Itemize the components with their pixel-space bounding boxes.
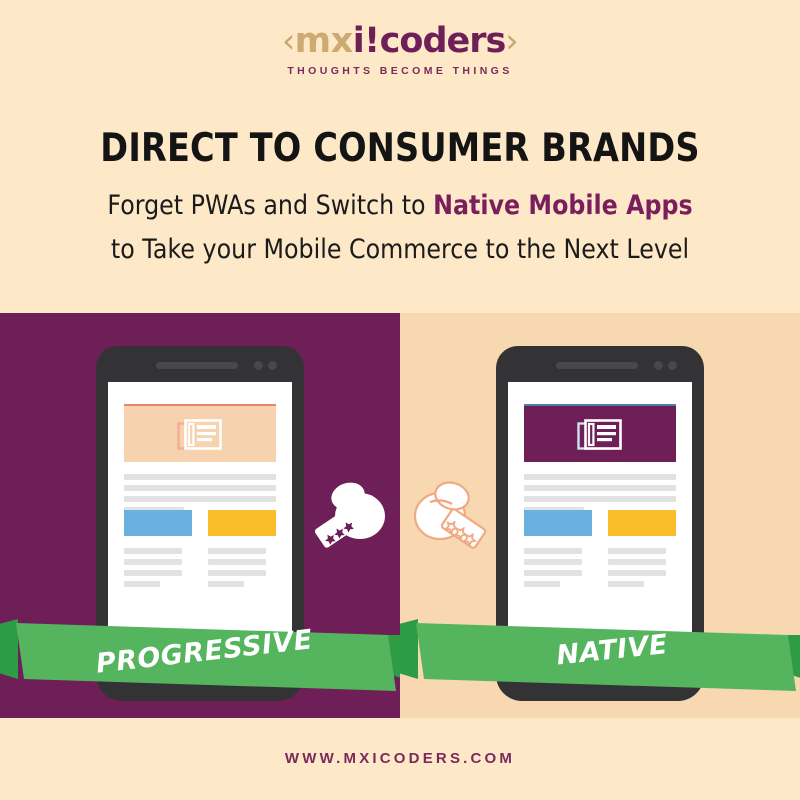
content-line	[208, 570, 266, 576]
footer-website: WWW.MXICODERS.COM	[0, 750, 800, 767]
content-line	[124, 548, 182, 554]
logo-text-coders: coders	[380, 21, 506, 61]
phone-screen-native	[508, 382, 692, 660]
logo-wordmark: ‹mxi!coders›	[0, 24, 800, 59]
subtitle-line-1: Forget PWAs and Switch to Native Mobile …	[48, 190, 752, 221]
phone-camera-icon	[668, 361, 677, 370]
phone-screen-progressive	[108, 382, 292, 660]
content-line	[124, 474, 276, 480]
logo-text-mx: mx	[295, 21, 353, 61]
app-hero-banner	[524, 404, 676, 462]
progressive-panel: PROGRESSIVE	[0, 313, 400, 718]
content-line	[124, 570, 182, 576]
content-line	[124, 581, 160, 587]
newspaper-icon	[576, 417, 624, 453]
app-card-blue	[524, 510, 592, 536]
content-line	[524, 485, 676, 491]
phone-mockup-progressive	[96, 346, 304, 701]
brand-logo: ‹mxi!coders› THOUGHTS BECOME THINGS	[0, 24, 800, 77]
logo-text-i: i!	[353, 21, 380, 61]
content-line	[608, 548, 666, 554]
app-card-blue	[124, 510, 192, 536]
subtitle-line-2: to Take your Mobile Commerce to the Next…	[48, 234, 752, 265]
content-line	[608, 559, 666, 565]
comparison-band: PROGRESSIVE	[0, 313, 800, 718]
native-panel: NATIVE	[400, 313, 800, 718]
poster-canvas: ‹mxi!coders› THOUGHTS BECOME THINGS DIRE…	[0, 0, 800, 800]
app-card-yellow	[608, 510, 676, 536]
content-line	[524, 570, 582, 576]
content-line	[208, 548, 266, 554]
logo-tagline: THOUGHTS BECOME THINGS	[0, 65, 800, 77]
content-line	[124, 485, 276, 491]
content-line	[524, 581, 560, 587]
content-line	[124, 559, 182, 565]
logo-bracket-close: ›	[505, 21, 518, 60]
content-line	[208, 559, 266, 565]
phone-mockup-native	[496, 346, 704, 701]
app-hero-banner	[124, 404, 276, 462]
content-line	[524, 474, 676, 480]
app-card-yellow	[208, 510, 276, 536]
phone-sensor-icon	[254, 361, 263, 370]
subtitle-plain-text: Forget PWAs and Switch to	[107, 190, 433, 221]
content-line	[208, 581, 244, 587]
content-line	[608, 581, 644, 587]
content-line	[608, 570, 666, 576]
phone-sensor-icon	[654, 361, 663, 370]
phone-camera-icon	[268, 361, 277, 370]
phone-speaker-icon	[156, 362, 238, 369]
content-line	[124, 496, 276, 502]
newspaper-icon	[176, 417, 224, 453]
phone-speaker-icon	[556, 362, 638, 369]
subtitle-accent-text: Native Mobile Apps	[433, 190, 693, 221]
content-line	[524, 496, 676, 502]
page-title: DIRECT TO CONSUMER BRANDS	[56, 126, 744, 171]
logo-bracket-open: ‹	[282, 21, 295, 60]
content-line	[524, 548, 582, 554]
content-line	[524, 559, 582, 565]
